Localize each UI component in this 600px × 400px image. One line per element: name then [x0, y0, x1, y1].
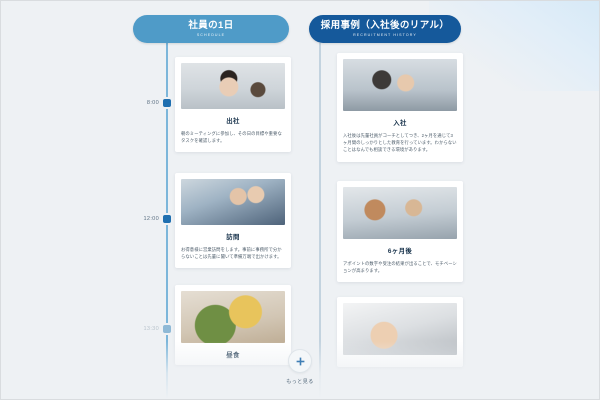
plus-icon [296, 357, 305, 366]
recruitment-card-1-title: 入社 [343, 118, 457, 127]
schedule-card-1-body: 朝のミーティングに参加し、その日の目標や重要なタスクを確認します。 [181, 130, 285, 144]
office-training-photo [343, 59, 457, 111]
client-visit-photo [181, 179, 285, 225]
page-root: 社員の1日 SCHEDULE 出社 朝のミーティングに参加し、その日の目標や重要… [0, 0, 600, 400]
recruitment-timeline-rail [319, 43, 321, 399]
load-more-section[interactable]: もっと見る [1, 349, 599, 385]
schedule-header-title: 社員の1日 [188, 20, 233, 31]
recruitment-card-2-title: 6ヶ月後 [343, 246, 457, 255]
recruitment-header-title: 採用事例（入社後のリアル） [321, 20, 450, 31]
timeline-label-2: 12:00 [127, 216, 159, 222]
schedule-card-1-title: 出社 [181, 116, 285, 125]
load-more-label: もっと見る [286, 378, 314, 385]
timeline-marker-1 [163, 99, 171, 107]
schedule-header-subtitle: SCHEDULE [197, 32, 225, 38]
recruitment-card-2-body: アポイントの数字や受注の結果が出ることで、モチベーションが高まります。 [343, 260, 457, 274]
timeline-marker-2 [163, 215, 171, 223]
timeline-label-1: 8:00 [127, 100, 159, 106]
timeline-marker-3 [163, 325, 171, 333]
recruitment-card-2[interactable]: 6ヶ月後 アポイントの数字や受注の結果が出ることで、モチベーションが高まります。 [337, 181, 463, 282]
meeting-photo [181, 63, 285, 109]
schedule-card-2-title: 訪問 [181, 232, 285, 241]
recruitment-card-1[interactable]: 入社 入社後は先輩社員がコーチとしてつき、2ヶ月を通じて3ヶ月間のしっかりとした… [337, 53, 463, 162]
schedule-card-2[interactable]: 訪問 お得意様に営業訪問をします。事前に事務所で分からないことは先輩に聞いて準備… [175, 173, 291, 268]
load-more-button[interactable] [288, 349, 312, 373]
laptop-typing-photo [343, 303, 457, 355]
recruitment-column: 採用事例（入社後のリアル） RECRUITMENT HISTORY 入社 入社後… [301, 1, 471, 400]
schedule-column: 社員の1日 SCHEDULE 出社 朝のミーティングに参加し、その日の目標や重要… [127, 1, 297, 400]
desk-work-photo [343, 187, 457, 239]
lunch-photo [181, 291, 285, 343]
schedule-card-1[interactable]: 出社 朝のミーティングに参加し、その日の目標や重要なタスクを確認します。 [175, 57, 291, 152]
recruitment-header-subtitle: RECRUITMENT HISTORY [353, 32, 417, 38]
timeline-label-3: 13:30 [127, 326, 159, 332]
recruitment-card-1-body: 入社後は先輩社員がコーチとしてつき、2ヶ月を通じて3ヶ月間のしっかりとした教育を… [343, 132, 457, 154]
schedule-header-pill: 社員の1日 SCHEDULE [133, 15, 289, 43]
recruitment-header-pill: 採用事例（入社後のリアル） RECRUITMENT HISTORY [309, 15, 461, 43]
schedule-card-2-body: お得意様に営業訪問をします。事前に事務所で分からないことは先輩に聞いて準備万端で… [181, 246, 285, 260]
